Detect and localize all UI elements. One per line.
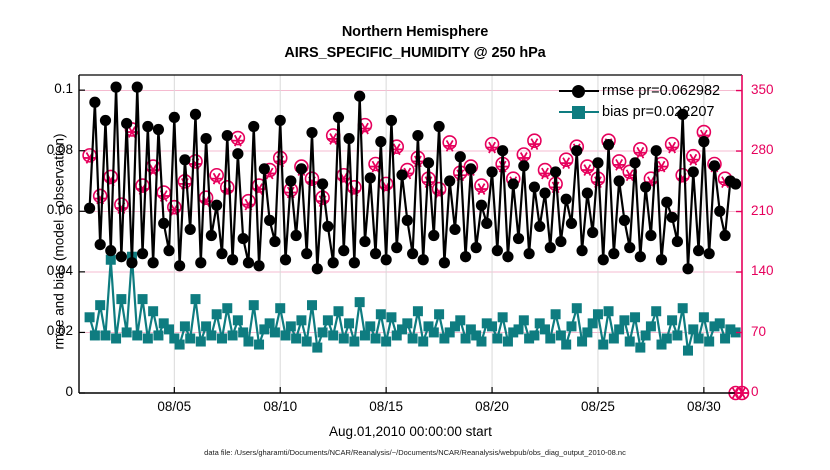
bias-marker bbox=[635, 343, 645, 353]
bias-marker bbox=[614, 324, 624, 334]
rmse-marker bbox=[386, 115, 397, 126]
rmse-marker bbox=[275, 115, 286, 126]
bias-marker bbox=[344, 318, 354, 328]
rmse-marker bbox=[545, 242, 556, 253]
bias-marker bbox=[243, 337, 253, 347]
rmse-marker bbox=[259, 163, 270, 174]
rmse-marker bbox=[365, 172, 376, 183]
bias-marker bbox=[461, 333, 471, 343]
rmse-marker bbox=[460, 251, 471, 262]
rmse-marker bbox=[322, 221, 333, 232]
rmse-marker bbox=[486, 166, 497, 177]
bias-marker bbox=[122, 327, 132, 337]
bias-marker bbox=[175, 340, 185, 350]
bias-marker bbox=[111, 333, 121, 343]
bias-marker bbox=[503, 337, 513, 347]
rmse-marker bbox=[132, 82, 143, 93]
rmse-marker bbox=[640, 181, 651, 192]
rmse-marker bbox=[444, 175, 455, 186]
rmse-marker bbox=[539, 188, 550, 199]
rmse-marker bbox=[550, 166, 561, 177]
bias-marker bbox=[577, 337, 587, 347]
rmse-marker bbox=[232, 148, 243, 159]
bias-marker bbox=[434, 309, 444, 319]
bias-marker bbox=[212, 309, 222, 319]
rmse-marker bbox=[285, 175, 296, 186]
rmse-marker bbox=[651, 145, 662, 156]
rmse-marker bbox=[280, 254, 291, 265]
bias-marker bbox=[249, 300, 259, 310]
obs-possible-marker bbox=[94, 189, 107, 202]
rmse-marker bbox=[206, 230, 217, 241]
rmse-marker bbox=[555, 236, 566, 247]
rmse-marker bbox=[592, 157, 603, 168]
rmse-marker bbox=[587, 227, 598, 238]
rmse-marker bbox=[518, 160, 529, 171]
rmse-marker bbox=[524, 248, 535, 259]
bias-marker bbox=[487, 321, 497, 331]
rmse-marker bbox=[269, 236, 280, 247]
rmse-marker bbox=[296, 163, 307, 174]
bias-marker bbox=[408, 333, 418, 343]
bias-marker bbox=[191, 294, 201, 304]
bias-marker bbox=[694, 333, 704, 343]
rmse-marker bbox=[89, 97, 100, 108]
bias-marker bbox=[598, 340, 608, 350]
rmse-marker bbox=[672, 236, 683, 247]
bias-marker bbox=[100, 330, 110, 340]
bias-marker bbox=[418, 337, 428, 347]
rmse-marker bbox=[95, 239, 106, 250]
bias-marker bbox=[312, 343, 322, 353]
rmse-marker bbox=[635, 251, 646, 262]
bias-marker bbox=[238, 327, 248, 337]
rmse-marker bbox=[624, 242, 635, 253]
rmse-marker bbox=[222, 130, 233, 141]
rmse-marker bbox=[291, 230, 302, 241]
rmse-marker bbox=[179, 154, 190, 165]
rmse-marker bbox=[465, 163, 476, 174]
bias-marker bbox=[85, 312, 95, 322]
bias-marker bbox=[386, 312, 396, 322]
rmse-marker bbox=[243, 257, 254, 268]
rmse-marker bbox=[200, 133, 211, 144]
rmse-marker bbox=[121, 118, 132, 129]
rmse-marker bbox=[333, 112, 344, 123]
bias-marker bbox=[132, 330, 142, 340]
bias-marker bbox=[333, 306, 343, 316]
rmse-marker bbox=[614, 175, 625, 186]
rmse-marker bbox=[317, 178, 328, 189]
rmse-marker bbox=[566, 218, 577, 229]
bias-marker bbox=[365, 321, 375, 331]
figure-container: Northern Hemisphere AIRS_SPECIFIC_HUMIDI… bbox=[0, 0, 830, 470]
rmse-marker bbox=[412, 130, 423, 141]
bias-marker bbox=[699, 312, 709, 322]
bias-marker bbox=[270, 327, 280, 337]
bias-marker bbox=[376, 309, 386, 319]
obs-possible-marker bbox=[231, 132, 244, 145]
bias-marker bbox=[498, 312, 508, 322]
rmse-marker bbox=[216, 248, 227, 259]
bias-marker bbox=[206, 330, 216, 340]
rmse-marker bbox=[502, 251, 513, 262]
bias-marker bbox=[286, 321, 296, 331]
bias-marker bbox=[662, 333, 672, 343]
bias-marker bbox=[683, 346, 693, 356]
plot-area bbox=[0, 0, 830, 470]
rmse-marker bbox=[476, 200, 487, 211]
rmse-marker bbox=[481, 218, 492, 229]
rmse-marker bbox=[449, 224, 460, 235]
bias-marker bbox=[566, 321, 576, 331]
bias-marker bbox=[201, 321, 211, 331]
bias-marker bbox=[138, 294, 148, 304]
bias-marker bbox=[185, 333, 195, 343]
bias-marker bbox=[360, 330, 370, 340]
rmse-marker bbox=[158, 218, 169, 229]
bias-marker bbox=[296, 315, 306, 325]
bias-marker bbox=[529, 330, 539, 340]
rmse-marker bbox=[343, 133, 354, 144]
rmse-marker bbox=[110, 82, 121, 93]
bias-marker bbox=[630, 312, 640, 322]
rmse-marker bbox=[714, 206, 725, 217]
bias-marker bbox=[164, 324, 174, 334]
rmse-marker bbox=[142, 121, 153, 132]
bias-marker bbox=[519, 315, 529, 325]
rmse-marker bbox=[513, 233, 524, 244]
bias-marker bbox=[609, 333, 619, 343]
rmse-marker bbox=[561, 194, 572, 205]
square-icon bbox=[572, 106, 585, 119]
rmse-marker bbox=[418, 254, 429, 265]
rmse-marker bbox=[306, 127, 317, 138]
rmse-marker bbox=[598, 254, 609, 265]
bias-marker bbox=[551, 309, 561, 319]
rmse-marker bbox=[328, 257, 339, 268]
bias-marker bbox=[556, 330, 566, 340]
bias-marker bbox=[514, 324, 524, 334]
bias-marker bbox=[116, 294, 126, 304]
rmse-marker bbox=[381, 254, 392, 265]
bias-marker bbox=[323, 315, 333, 325]
bias-marker bbox=[371, 333, 381, 343]
bias-marker bbox=[148, 306, 158, 316]
bias-marker bbox=[476, 337, 486, 347]
bias-marker bbox=[604, 306, 614, 316]
rmse-marker bbox=[629, 157, 640, 168]
bias-marker bbox=[153, 330, 163, 340]
rmse-marker bbox=[576, 245, 587, 256]
rmse-marker bbox=[248, 121, 259, 132]
bias-marker bbox=[328, 330, 338, 340]
rmse-marker bbox=[253, 260, 264, 271]
bias-marker bbox=[381, 337, 391, 347]
rmse-marker bbox=[682, 263, 693, 274]
rmse-marker bbox=[338, 245, 349, 256]
bias-marker bbox=[561, 340, 571, 350]
bias-marker bbox=[715, 318, 725, 328]
rmse-marker bbox=[391, 242, 402, 253]
rmse-marker bbox=[84, 203, 95, 214]
rmse-marker bbox=[730, 178, 741, 189]
rmse-marker bbox=[407, 248, 418, 259]
rmse-marker bbox=[402, 215, 413, 226]
circle-icon bbox=[572, 85, 585, 98]
rmse-marker bbox=[666, 212, 677, 223]
rmse-marker bbox=[497, 145, 508, 156]
rmse-marker bbox=[174, 260, 185, 271]
bias-marker bbox=[540, 324, 550, 334]
rmse-marker bbox=[100, 115, 111, 126]
rmse-marker bbox=[698, 136, 709, 147]
bias-marker bbox=[228, 330, 238, 340]
rmse-marker bbox=[238, 233, 249, 244]
rmse-marker bbox=[661, 197, 672, 208]
rmse-marker bbox=[656, 254, 667, 265]
bias-marker bbox=[180, 321, 190, 331]
bias-marker bbox=[318, 327, 328, 337]
rmse-marker bbox=[534, 221, 545, 232]
rmse-marker bbox=[227, 254, 238, 265]
rmse-marker bbox=[455, 151, 466, 162]
rmse-marker bbox=[492, 245, 503, 256]
bias-marker bbox=[667, 315, 677, 325]
legend-label: rmse pr=0.062982 bbox=[602, 83, 720, 99]
rmse-marker bbox=[582, 188, 593, 199]
bias-marker bbox=[291, 333, 301, 343]
rmse-marker bbox=[396, 169, 407, 180]
rmse-marker bbox=[428, 230, 439, 241]
rmse-marker bbox=[359, 236, 370, 247]
rmse-marker bbox=[688, 166, 699, 177]
bias-marker bbox=[704, 337, 714, 347]
bias-marker bbox=[275, 303, 285, 313]
rmse-marker bbox=[190, 109, 201, 120]
bias-marker bbox=[593, 309, 603, 319]
bias-marker bbox=[233, 315, 243, 325]
legend-item[interactable]: bias pr=0.022207 bbox=[557, 101, 720, 122]
rmse-marker bbox=[370, 248, 381, 259]
rmse-marker bbox=[645, 230, 656, 241]
bias-marker bbox=[413, 306, 423, 316]
bias-marker bbox=[619, 315, 629, 325]
bias-marker bbox=[254, 340, 264, 350]
rmse-marker bbox=[603, 139, 614, 150]
rmse-marker bbox=[301, 248, 312, 259]
bias-marker bbox=[545, 333, 555, 343]
bias-marker bbox=[222, 303, 232, 313]
bias-marker bbox=[572, 303, 582, 313]
rmse-marker bbox=[529, 181, 540, 192]
bias-marker bbox=[688, 324, 698, 334]
obs-possible-marker bbox=[189, 155, 202, 168]
rmse-marker bbox=[354, 91, 365, 102]
rmse-marker bbox=[423, 157, 434, 168]
rmse-marker bbox=[211, 200, 222, 211]
bias-marker bbox=[90, 330, 100, 340]
bias-marker bbox=[641, 330, 651, 340]
bias-marker bbox=[492, 333, 502, 343]
rmse-marker bbox=[375, 136, 386, 147]
rmse-marker bbox=[137, 248, 148, 259]
bias-marker bbox=[672, 330, 682, 340]
rmse-marker bbox=[163, 245, 174, 256]
bias-marker bbox=[588, 318, 598, 328]
rmse-marker bbox=[571, 145, 582, 156]
bias-marker bbox=[217, 333, 227, 343]
bias-legend-icon bbox=[557, 102, 601, 122]
chart-legend: rmse pr=0.062982bias pr=0.022207 bbox=[557, 80, 720, 122]
legend-item[interactable]: rmse pr=0.062982 bbox=[557, 80, 720, 101]
rmse-marker bbox=[116, 251, 127, 262]
rmse-marker bbox=[693, 245, 704, 256]
rmse-marker bbox=[608, 248, 619, 259]
rmse-marker bbox=[471, 242, 482, 253]
bias-marker bbox=[651, 306, 661, 316]
bias-marker bbox=[143, 333, 153, 343]
bias-marker bbox=[582, 327, 592, 337]
rmse-marker bbox=[105, 245, 116, 256]
bias-marker bbox=[339, 333, 349, 343]
rmse-marker bbox=[195, 257, 206, 268]
bias-marker bbox=[429, 327, 439, 337]
bias-marker bbox=[307, 300, 317, 310]
bias-marker bbox=[720, 333, 730, 343]
bias-marker bbox=[302, 337, 312, 347]
rmse-marker bbox=[169, 112, 180, 123]
bias-marker bbox=[625, 337, 635, 347]
bias-marker bbox=[265, 318, 275, 328]
bias-marker bbox=[95, 300, 105, 310]
bias-marker bbox=[355, 297, 365, 307]
rmse-marker bbox=[312, 263, 323, 274]
bias-marker bbox=[455, 315, 465, 325]
rmse-marker bbox=[439, 257, 450, 268]
rmse-marker bbox=[719, 230, 730, 241]
rmse-marker bbox=[433, 121, 444, 132]
bias-marker bbox=[402, 318, 412, 328]
rmse-marker bbox=[264, 215, 275, 226]
rmse-marker bbox=[148, 257, 159, 268]
rmse-marker bbox=[185, 224, 196, 235]
rmse-marker bbox=[153, 124, 164, 135]
bias-marker bbox=[349, 337, 359, 347]
bias-marker bbox=[646, 321, 656, 331]
bias-marker bbox=[281, 330, 291, 340]
rmse-marker bbox=[619, 215, 630, 226]
bias-marker bbox=[678, 303, 688, 313]
bias-marker bbox=[196, 337, 206, 347]
rmse-marker bbox=[704, 248, 715, 259]
legend-label: bias pr=0.022207 bbox=[602, 104, 714, 120]
rmse-marker bbox=[508, 178, 519, 189]
rmse-legend-icon bbox=[557, 81, 601, 101]
rmse-marker bbox=[126, 257, 137, 268]
rmse-marker bbox=[709, 160, 720, 171]
rmse-marker bbox=[349, 257, 360, 268]
